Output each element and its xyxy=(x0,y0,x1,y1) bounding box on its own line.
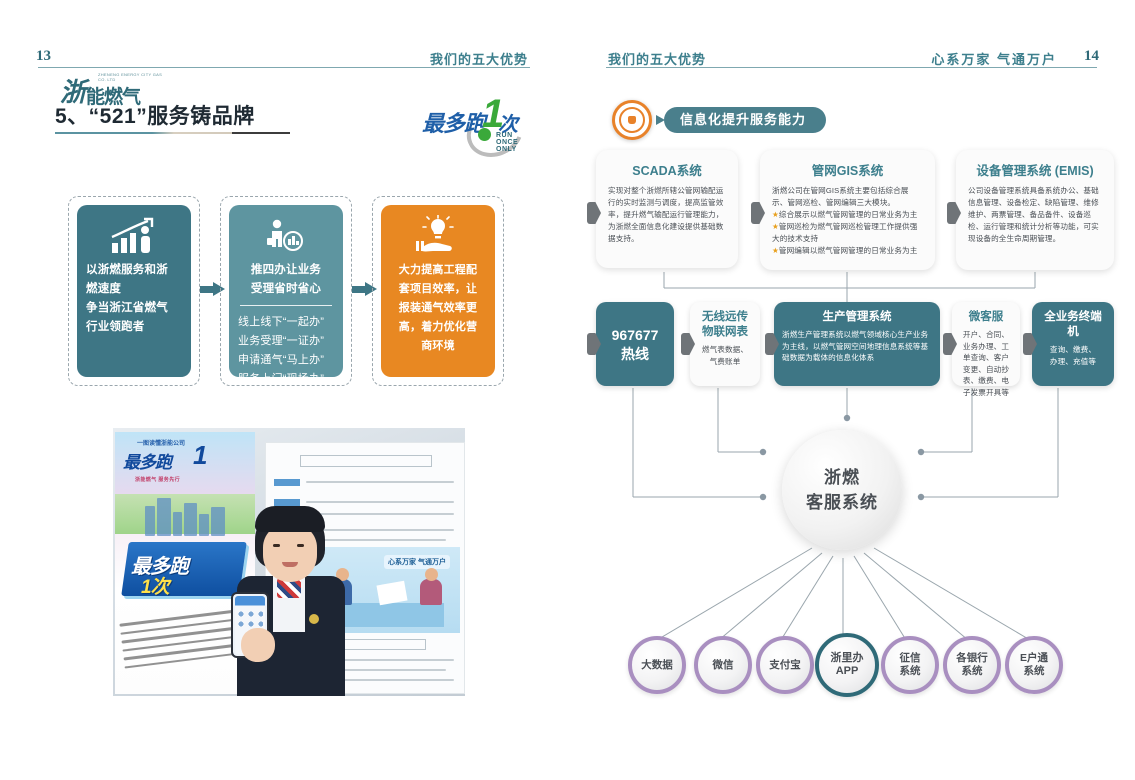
card-emis: 设备管理系统 (EMIS) 公司设备管理系统具备系统办公、基础信息管理、设备检定… xyxy=(956,150,1114,270)
staff-mouth xyxy=(282,562,298,567)
header-tagline: 心系万家 气通万户 xyxy=(931,49,1057,68)
node-credit-label-1: 征信 xyxy=(900,652,921,665)
star-icon: ★ xyxy=(772,246,779,255)
box-iot-title-2: 物联网表 xyxy=(698,325,752,340)
node-wechat-label: 微信 xyxy=(713,659,734,672)
service-photo: 心系万家 气通万户 xyxy=(113,428,465,696)
flow-node-3-body-1: 大力提高工程配 xyxy=(390,261,486,280)
city-building xyxy=(199,514,209,536)
flow-node-3-body-4: 高，着力优化营 xyxy=(390,318,486,337)
banner-text-line xyxy=(123,643,240,660)
box-wechat-title: 微客服 xyxy=(960,310,1012,325)
illustration-paper xyxy=(376,581,407,606)
poster-tagline: 心系万家 气通万户 xyxy=(384,555,450,569)
photo-staff-member xyxy=(229,506,355,696)
flow-node-2-body-3: 申请通气“马上办” xyxy=(238,351,334,370)
node-bank-system[interactable]: 各银行 系统 xyxy=(943,636,1001,694)
staff-face xyxy=(263,524,317,582)
node-bank-label-1: 各银行 xyxy=(956,652,988,665)
box-terminal-title: 全业务终端机 xyxy=(1040,310,1106,340)
customer-service-hub: 浙燃 客服系统 xyxy=(782,430,902,550)
box-hotline: 967677 热线 xyxy=(596,302,674,386)
service-flow-diagram: 以浙燃服务和浙 燃速度 争当浙江省燃气 行业领跑者 xyxy=(68,196,508,384)
left-running-head: 13 浙 ZHENENG ENERGY CITY GAS CO. LTD 能燃气… xyxy=(0,40,568,70)
card-scada-body: 实现对整个浙燃所辖公管网输配运行的实时监测与调度，提高监管效率，提升燃气输配运行… xyxy=(608,185,726,245)
page-title: 5、“521”服务铸品牌 xyxy=(55,100,255,130)
box-production-title: 生产管理系统 xyxy=(782,310,932,325)
flow-node-1-line-3: 争当浙江省燃气 xyxy=(86,299,182,318)
banner-text-line xyxy=(119,609,237,626)
banner-kicker: 一图读懂浙能公司 xyxy=(137,438,185,447)
card-scada: SCADA系统 实现对整个浙燃所辖公管网输配运行的实时监测与调度，提高监管效率，… xyxy=(596,150,738,268)
box-iot-title-1: 无线远传 xyxy=(698,310,752,325)
flow-node-1-line-1: 以浙燃服务和浙 xyxy=(86,261,182,280)
idea-hand-icon xyxy=(390,215,486,255)
node-zheliban-app[interactable]: 浙里办 APP xyxy=(815,633,879,697)
card-gis-body: 浙燃公司在管网GIS系统主要包括综合展示、管网巡检、管网编辑三大模块。 xyxy=(772,185,923,209)
hub-line-1: 浙燃 xyxy=(824,465,860,490)
card-scada-title: SCADA系统 xyxy=(608,160,726,179)
city-building xyxy=(211,507,225,536)
flow-node-2-body-1: 线上线下“一起办” xyxy=(238,313,334,332)
logo-english: ZHENENG ENERGY CITY GAS CO. LTD xyxy=(98,72,168,82)
bullet-text: 综合展示以燃气管网管理的日常业务为主 xyxy=(779,210,918,219)
flow-node-2-heading-1: 推四办让业务 xyxy=(238,261,334,280)
box-tab-icon xyxy=(587,333,601,355)
poster-title-box xyxy=(300,455,432,467)
flow-node-2: 推四办让业务 受理省时省心 线上线下“一起办” 业务受理“一证办” 申请通气“马… xyxy=(220,196,352,386)
city-building xyxy=(184,503,197,536)
section-badge: 信息化提升服务能力 xyxy=(612,104,826,136)
flow-node-3-body-3: 报装通气效率更 xyxy=(390,299,486,318)
banner-text-line xyxy=(121,626,241,643)
card-gis-bullet-1: ★综合展示以燃气管网管理的日常业务为主 xyxy=(772,209,923,221)
title-underline-accent xyxy=(232,132,290,134)
section-badge-label: 信息化提升服务能力 xyxy=(664,107,826,133)
bullet-text: 管网巡检为燃气管网巡检管理工作提供强大的技术支持 xyxy=(772,222,917,243)
channel-box-row: 967677 热线 无线远传 物联网表 燃气表数据、 气费账单 生产管理系统 浙… xyxy=(592,302,1117,386)
box-iot-body-1: 燃气表数据、 xyxy=(698,344,752,356)
staff-badge xyxy=(309,614,319,624)
box-iot-meter: 无线远传 物联网表 燃气表数据、 气费账单 xyxy=(690,302,760,386)
box-production-system: 生产管理系统 浙燃生产管理系统以燃气领域核心生产业务为主线，以燃气管网空间地理信… xyxy=(774,302,940,386)
box-tab-icon xyxy=(681,333,695,355)
poster-line xyxy=(306,501,454,503)
box-hotline-number: 967677 xyxy=(612,326,659,345)
star-icon: ★ xyxy=(772,222,779,231)
box-wechat-body: 开户、合同、业务办理、工单查询、客户变更、自动抄表、缴费、电子发票开具等 xyxy=(960,329,1012,398)
node-ehutong-system[interactable]: E户通 系统 xyxy=(1005,636,1063,694)
node-credit-label-2: 系统 xyxy=(900,665,921,678)
brochure-spread: 13 浙 ZHENENG ENERGY CITY GAS CO. LTD 能燃气… xyxy=(0,0,1135,780)
badge-dot xyxy=(628,116,636,124)
banner-title: 最多跑 xyxy=(123,448,171,473)
flow-node-3-body-2: 套项目效率，让 xyxy=(390,280,486,299)
card-gis-title: 管网GIS系统 xyxy=(772,160,923,179)
poster-tag-1 xyxy=(274,479,300,486)
illustration-person-2 xyxy=(420,579,442,605)
staff-eye-left xyxy=(273,544,280,547)
box-terminal-body-1: 查询、缴费、 xyxy=(1040,344,1106,356)
card-emis-body: 公司设备管理系统具备系统办公、基础信息管理、设备检定、缺陷管理、维修维护、两票管… xyxy=(968,185,1102,245)
node-alipay[interactable]: 支付宝 xyxy=(756,636,814,694)
node-zheliban-label-2: APP xyxy=(831,665,864,678)
box-wechat-service: 微客服 开户、合同、业务办理、工单查询、客户变更、自动抄表、缴费、电子发票开具等 xyxy=(952,302,1020,386)
running-head-text-right: 我们的五大优势 xyxy=(608,49,706,68)
campaign-logo-main: 最多跑 xyxy=(422,106,485,138)
node-credit-system[interactable]: 征信 系统 xyxy=(881,636,939,694)
box-production-body: 浙燃生产管理系统以燃气领域核心生产业务为主线，以燃气管网空间地理信息系统等基础数… xyxy=(782,329,932,364)
card-gis-bullet-2: ★管网巡检为燃气管网巡检管理工作提供强大的技术支持 xyxy=(772,221,923,245)
flow-node-1-inner: 以浙燃服务和浙 燃速度 争当浙江省燃气 行业领跑者 xyxy=(77,205,191,377)
card-emis-title: 设备管理系统 (EMIS) xyxy=(968,160,1102,179)
channel-node-row: 大数据 微信 支付宝 浙里办 APP 征信 系统 各银行 系统 xyxy=(620,636,1080,694)
page-number-left: 13 xyxy=(36,48,51,65)
poster-line xyxy=(306,481,454,483)
node-bank-label-2: 系统 xyxy=(956,665,988,678)
card-gis-bullet-3: ★管网编辑以燃气管网管理的日常业务为主 xyxy=(772,245,923,257)
box-self-service-terminal: 全业务终端机 查询、缴费、 办理、充值等 xyxy=(1032,302,1114,386)
staff-eye-right xyxy=(297,544,304,547)
illustration-head-2 xyxy=(425,568,438,581)
flow-node-3: 大力提高工程配 套项目效率，让 报装通气效率更 高，着力优化营 商环境 xyxy=(372,196,504,386)
node-zheliban-label-1: 浙里办 xyxy=(831,652,864,665)
card-tab-icon xyxy=(947,202,961,224)
box-hotline-label: 热线 xyxy=(612,345,659,364)
box-terminal-body-2: 办理、充值等 xyxy=(1040,356,1106,368)
city-building xyxy=(157,498,171,536)
banner-headline-2: 1次 xyxy=(141,572,169,599)
node-alipay-label: 支付宝 xyxy=(769,659,801,672)
flow-node-2-divider xyxy=(240,305,332,306)
poster-tag-2 xyxy=(274,499,300,506)
box-tab-icon xyxy=(1023,333,1037,355)
growth-chart-icon xyxy=(86,215,182,255)
staff-hand xyxy=(241,628,275,662)
flow-node-3-body-5: 商环境 xyxy=(390,337,486,356)
badge-ring xyxy=(619,107,645,133)
running-head-text-left: 我们的五大优势 xyxy=(430,49,528,68)
campaign-logo: 最多跑 1 次 RUN ONCE ONLY xyxy=(422,90,532,150)
box-tab-icon xyxy=(765,333,779,355)
card-tab-icon xyxy=(587,202,601,224)
city-building xyxy=(173,512,182,536)
city-building xyxy=(145,506,155,536)
flow-node-1-line-2: 燃速度 xyxy=(86,280,182,299)
card-gis: 管网GIS系统 浙燃公司在管网GIS系统主要包括综合展示、管网巡检、管网编辑三大… xyxy=(760,150,935,270)
broadcast-touch-icon xyxy=(612,100,652,140)
flow-node-2-inner: 推四办让业务 受理省时省心 线上线下“一起办” 业务受理“一证办” 申请通气“马… xyxy=(229,205,343,377)
campaign-logo-dot xyxy=(478,128,491,141)
staff-fringe xyxy=(255,506,325,532)
banner-numeral: 1 xyxy=(193,440,207,471)
banner-subtitle: 浙能燃气 服务先行 xyxy=(135,476,180,483)
hub-line-2: 客服系统 xyxy=(806,490,878,515)
flow-node-2-body-4: 服务上门“现场办” xyxy=(238,370,334,389)
flow-node-2-heading-2: 受理省时省心 xyxy=(238,280,334,299)
card-tab-icon xyxy=(751,202,765,224)
left-page: 13 浙 ZHENENG ENERGY CITY GAS CO. LTD 能燃气… xyxy=(0,0,568,780)
service-staff-icon xyxy=(238,215,334,255)
flow-node-3-inner: 大力提高工程配 套项目效率，让 报装通气效率更 高，着力优化营 商环境 xyxy=(381,205,495,377)
node-ehutong-label-2: 系统 xyxy=(1020,665,1048,678)
campaign-logo-sub: RUN ONCE ONLY xyxy=(496,132,532,153)
flow-node-1: 以浙燃服务和浙 燃速度 争当浙江省燃气 行业领跑者 xyxy=(68,196,200,386)
bullet-text: 管网编辑以燃气管网管理的日常业务为主 xyxy=(779,246,918,255)
flow-node-1-line-4: 行业领跑者 xyxy=(86,318,182,337)
box-tab-icon xyxy=(943,333,957,355)
flow-node-2-body-2: 业务受理“一证办” xyxy=(238,332,334,351)
box-iot-body-2: 气费账单 xyxy=(698,356,752,368)
node-big-data[interactable]: 大数据 xyxy=(628,636,686,694)
node-wechat[interactable]: 微信 xyxy=(694,636,752,694)
page-number-right: 14 xyxy=(1084,48,1099,65)
node-big-data-label: 大数据 xyxy=(641,659,673,672)
right-running-head: 我们的五大优势 心系万家 气通万户 14 xyxy=(568,40,1135,70)
star-icon: ★ xyxy=(772,210,779,219)
node-ehutong-label-1: E户通 xyxy=(1020,652,1048,665)
